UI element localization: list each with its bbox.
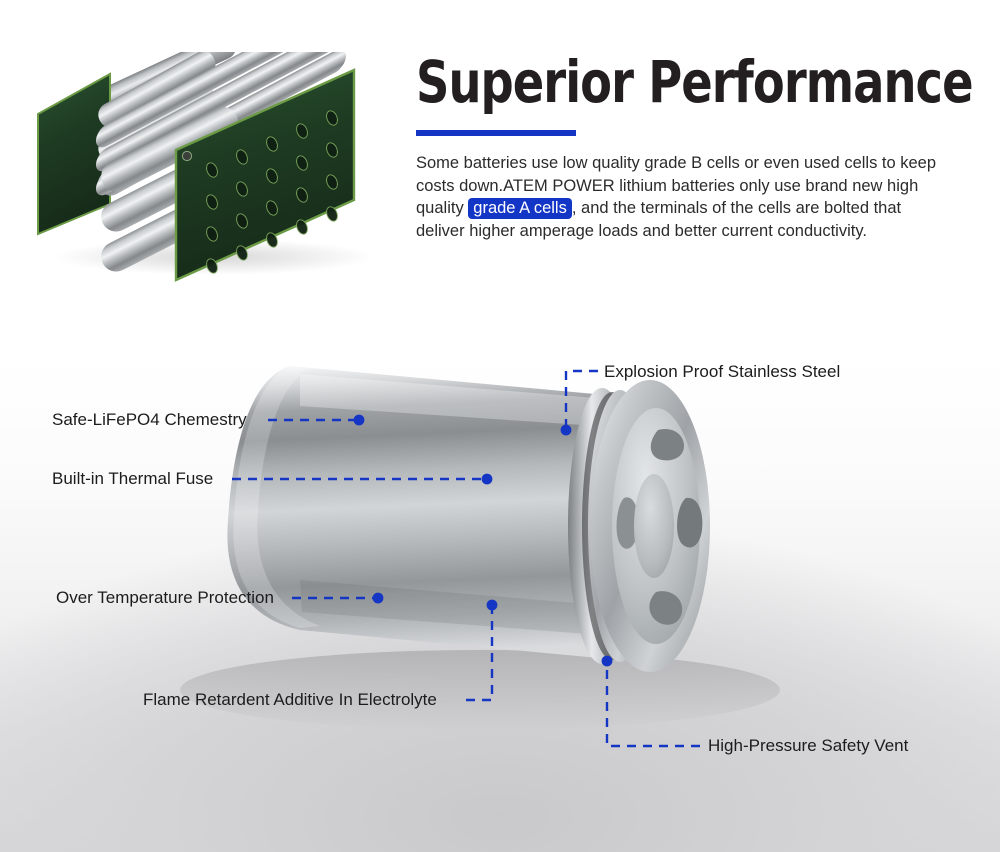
- battery-pack-image: [24, 52, 394, 282]
- grade-a-cells-highlight: grade A cells: [468, 198, 572, 219]
- callout-label-safe-lifepo4-chemistry: Safe-LiFePO4 Chemestry: [52, 410, 247, 430]
- battery-pack-svg: [24, 52, 394, 282]
- callout-label-high-pressure-safety-vent: High-Pressure Safety Vent: [708, 736, 908, 756]
- description-paragraph: Some batteries use low quality grade B c…: [416, 152, 944, 242]
- cell-positive-terminal: [634, 474, 674, 578]
- battery-cell-svg: [150, 330, 930, 750]
- callout-label-flame-retardent-additive: Flame Retardent Additive In Electrolyte: [143, 690, 437, 710]
- callout-label-over-temperature-protection: Over Temperature Protection: [56, 588, 274, 608]
- callout-label-built-in-thermal-fuse: Built-in Thermal Fuse: [52, 469, 213, 489]
- pack-rear-plate: [38, 74, 110, 234]
- header-block: Superior Performance Some batteries use …: [416, 52, 956, 242]
- battery-cell-image: [150, 330, 930, 750]
- cell-body: [227, 366, 620, 660]
- page-title: Superior Performance: [416, 52, 848, 112]
- callout-label-explosion-proof-stainless-steel: Explosion Proof Stainless Steel: [604, 362, 840, 382]
- infographic-canvas: Superior Performance Some batteries use …: [0, 0, 1000, 852]
- title-underline-rule: [416, 130, 576, 136]
- cell-end-cap: [590, 380, 710, 672]
